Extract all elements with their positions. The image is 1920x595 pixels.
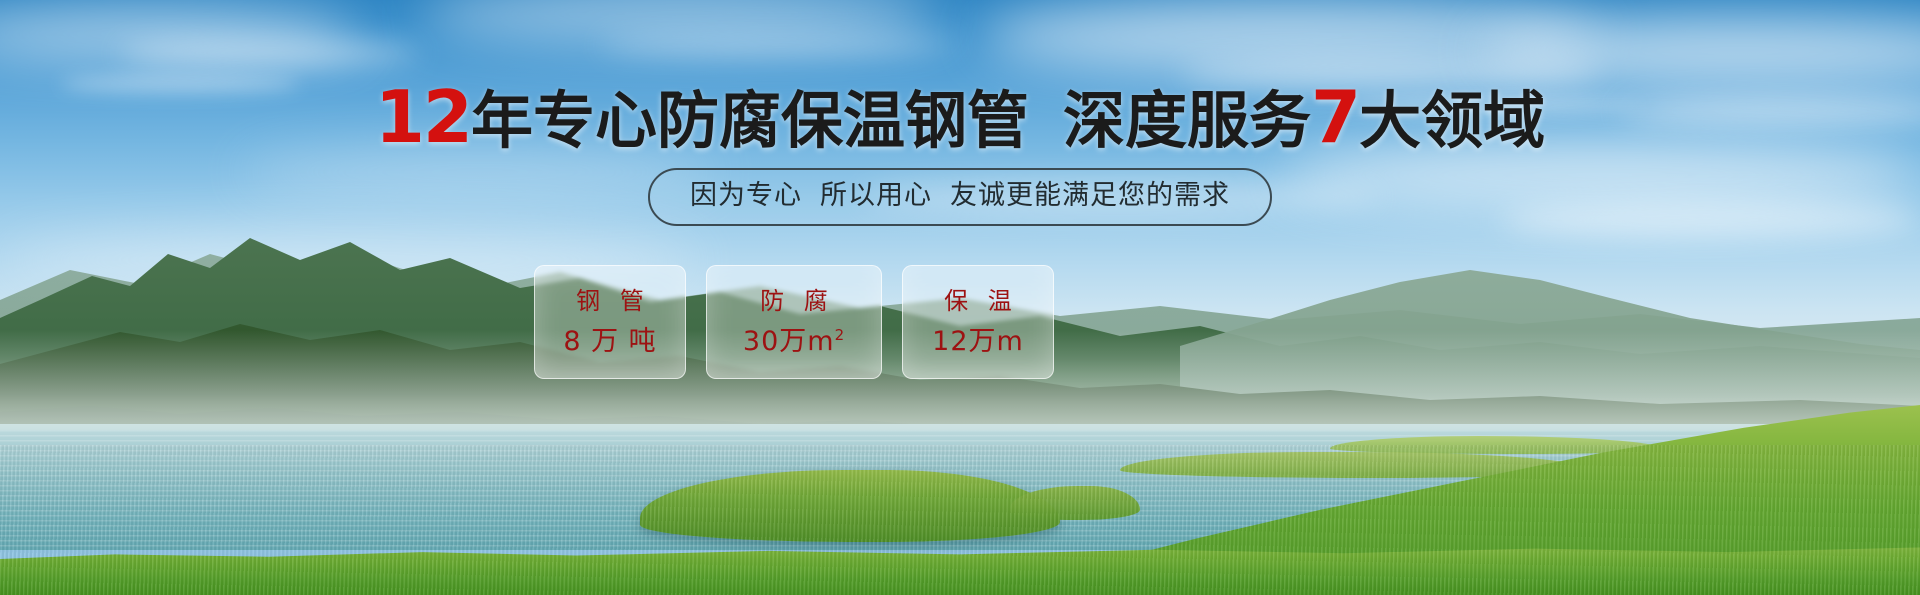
hero-banner: 12年专心防腐保温钢管深度服务7大领域 因为专心所以用心友诚更能满足您的需求 钢… — [0, 0, 1920, 595]
stat-card-value: 8 万 吨 — [563, 326, 656, 358]
subtitle-segment-3: 友诚更能满足您的需求 — [950, 180, 1230, 211]
headline-text-part2: 深度服务 — [1063, 84, 1311, 157]
stat-card-anticorrosion[interactable]: 防 腐 30万m2 — [706, 265, 882, 379]
headline-text-part1: 年专心防腐保温钢管 — [471, 84, 1029, 157]
headline-fields-number: 7 — [1311, 75, 1359, 159]
stat-card-value: 30万m2 — [743, 326, 845, 358]
banner-subtitle-wrap: 因为专心所以用心友诚更能满足您的需求 — [0, 168, 1920, 226]
banner-subtitle-pill: 因为专心所以用心友诚更能满足您的需求 — [648, 168, 1272, 226]
stat-card-label: 钢 管 — [570, 286, 650, 316]
headline-years-number: 12 — [375, 75, 471, 159]
headline-text-part3: 大领域 — [1359, 84, 1545, 157]
stat-cards: 钢 管 8 万 吨 防 腐 30万m2 保 温 12万m — [534, 265, 1054, 379]
stat-card-label: 保 温 — [938, 286, 1018, 316]
stat-card-label: 防 腐 — [754, 286, 834, 316]
stat-card-insulation[interactable]: 保 温 12万m — [902, 265, 1054, 379]
subtitle-segment-2: 所以用心 — [820, 180, 932, 211]
stat-card-steel-pipe[interactable]: 钢 管 8 万 吨 — [534, 265, 686, 379]
stat-card-unit-sup: 2 — [835, 326, 846, 344]
subtitle-segment-1: 因为专心 — [690, 180, 802, 211]
stat-card-value: 12万m — [932, 326, 1024, 358]
banner-headline: 12年专心防腐保温钢管深度服务7大领域 — [0, 82, 1920, 156]
